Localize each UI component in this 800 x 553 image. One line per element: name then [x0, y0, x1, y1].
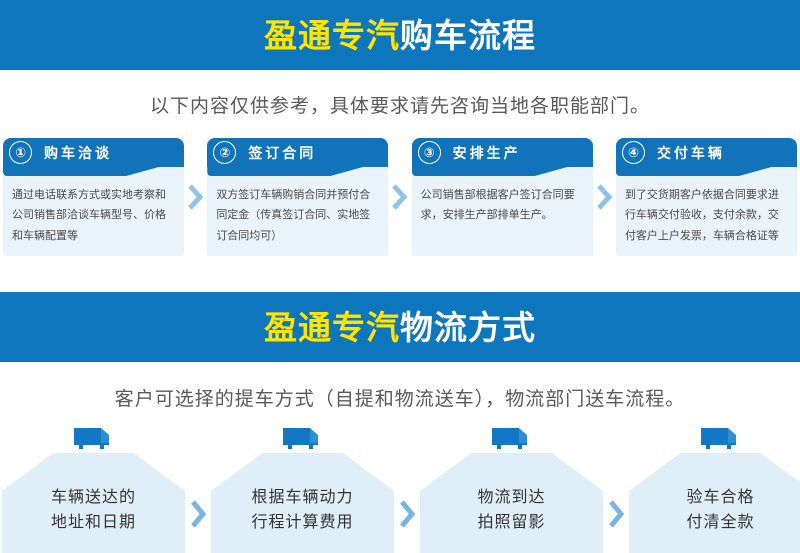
chevron-right-icon	[185, 499, 211, 553]
purchase-banner: 盈通专汽购车流程	[0, 0, 800, 70]
logistics-card-line2-4: 付清全款	[686, 511, 754, 536]
logistics-banner-rest: 物流方式	[400, 309, 536, 346]
purchase-banner-brand: 盈通专汽	[264, 17, 400, 54]
step-number-badge-1: ①	[9, 141, 32, 164]
logistics-cards-row: 车辆送达的 地址和日期 根据车辆动力 行程计算费用	[0, 425, 800, 553]
logistics-card-line2-2: 行程计算费用	[251, 511, 353, 536]
step-header-2: ② 签订合同	[207, 138, 388, 167]
logistics-subtitle: 客户可选择的提车方式（自提和物流送车），物流部门送车流程。	[0, 384, 800, 411]
step-number-badge-3: ③	[418, 141, 441, 164]
truck-icon	[699, 425, 743, 451]
chevron-right-icon	[394, 499, 420, 553]
logistics-card-body-2: 根据车辆动力 行程计算费用	[211, 453, 394, 553]
chevron-right-icon	[603, 499, 629, 553]
truck-icon	[490, 425, 534, 451]
logistics-card-body-3: 物流到达 拍照留影	[420, 453, 603, 553]
purchase-banner-rest: 购车流程	[400, 17, 536, 54]
step-header-3: ③ 安排生产	[412, 138, 593, 167]
logistics-card-4[interactable]: 验车合格 付清全款	[629, 425, 800, 553]
logistics-banner-title: 盈通专汽物流方式	[264, 311, 536, 344]
step-card-3[interactable]: ③ 安排生产 公司销售部根据客户签订合同要求，安排生产部排单生产。	[412, 138, 593, 256]
logistics-card-1[interactable]: 车辆送达的 地址和日期	[2, 425, 185, 553]
step-number-badge-2: ②	[213, 141, 236, 164]
logistics-banner: 盈通专汽物流方式	[0, 292, 800, 362]
chevron-right-icon	[185, 138, 207, 256]
step-title-3: 安排生产	[453, 143, 521, 163]
logistics-card-line2-3: 拍照留影	[477, 511, 545, 536]
truck-icon	[281, 425, 325, 451]
step-title-4: 交付车辆	[657, 143, 725, 163]
logistics-card-line1-1: 车辆送达的	[51, 486, 136, 511]
purchase-steps-row: ① 购车洽谈 通过电话联系方式或实地考察和公司销售部洽谈车辆型号、价格和车辆配置…	[0, 138, 800, 256]
step-card-2[interactable]: ② 签订合同 双方签订车辆购销合同并预付合同定金（传真签订合同、实地签订合同均可…	[207, 138, 388, 256]
purchase-subtitle: 以下内容仅供参考，具体要求请先咨询当地各职能部门。	[0, 91, 800, 118]
step-card-1[interactable]: ① 购车洽谈 通过电话联系方式或实地考察和公司销售部洽谈车辆型号、价格和车辆配置…	[3, 138, 184, 256]
logistics-card-body-4: 验车合格 付清全款	[629, 453, 800, 553]
step-body-3: 公司销售部根据客户签订合同要求，安排生产部排单生产。	[412, 167, 593, 256]
step-body-2: 双方签订车辆购销合同并预付合同定金（传真签订合同、实地签订合同均可）	[207, 167, 388, 256]
step-body-1: 通过电话联系方式或实地考察和公司销售部洽谈车辆型号、价格和车辆配置等	[3, 167, 184, 256]
logistics-card-line1-2: 根据车辆动力	[251, 486, 353, 511]
step-card-4[interactable]: ④ 交付车辆 到了交货期客户依据合同要求进行车辆交付验收，支付余款，交付客户上户…	[616, 138, 797, 256]
truck-icon	[72, 425, 116, 451]
logistics-card-body-1: 车辆送达的 地址和日期	[2, 453, 185, 553]
step-number-badge-4: ④	[622, 141, 645, 164]
step-title-1: 购车洽谈	[44, 143, 112, 163]
logistics-card-line1-3: 物流到达	[477, 486, 545, 511]
logistics-banner-brand: 盈通专汽	[264, 309, 400, 346]
chevron-right-icon	[593, 138, 615, 256]
step-header-1: ① 购车洽谈	[3, 138, 184, 167]
step-body-4: 到了交货期客户依据合同要求进行车辆交付验收，支付余款，交付客户上户发票，车辆合格…	[616, 167, 797, 256]
step-header-4: ④ 交付车辆	[616, 138, 797, 167]
chevron-right-icon	[389, 138, 411, 256]
logistics-card-line2-1: 地址和日期	[51, 511, 136, 536]
logistics-card-3[interactable]: 物流到达 拍照留影	[420, 425, 603, 553]
logistics-card-2[interactable]: 根据车辆动力 行程计算费用	[211, 425, 394, 553]
logistics-card-line1-4: 验车合格	[686, 486, 754, 511]
step-title-2: 签订合同	[248, 143, 316, 163]
purchase-banner-title: 盈通专汽购车流程	[264, 19, 536, 52]
